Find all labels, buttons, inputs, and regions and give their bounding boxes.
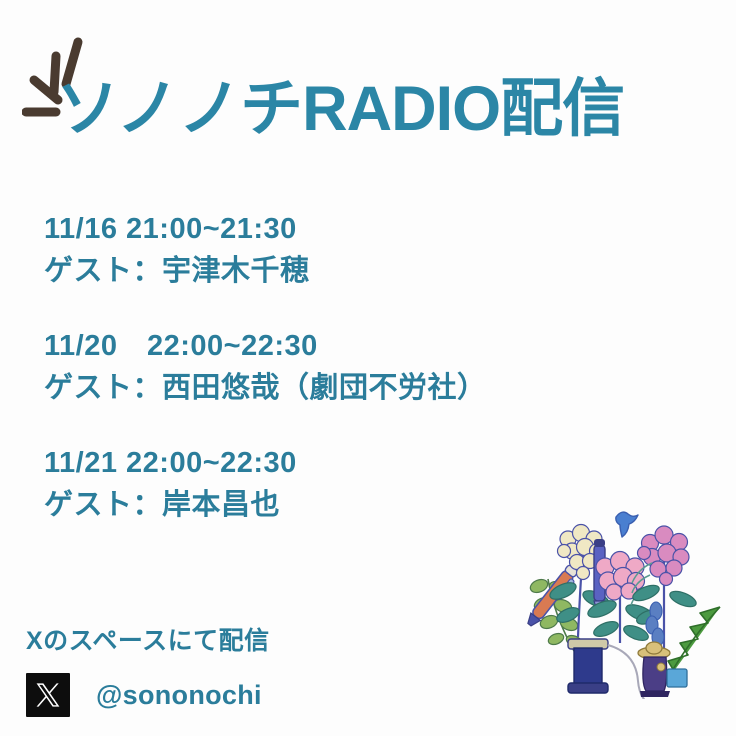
schedule-datetime: 11/16 21:00~21:30: [44, 208, 564, 250]
thread-spool-icon: [568, 639, 608, 693]
dandelion-leaf: [668, 607, 720, 671]
page-title: ソノノチRADIO配信: [56, 78, 624, 141]
bird-icon: [616, 512, 638, 537]
title-block: ソノノチRADIO配信: [22, 34, 582, 144]
schedule-datetime: 11/20 22:00~22:30: [44, 325, 564, 367]
schedule-list: 11/16 21:00~21:30 ゲスト：宇津木千穂 11/20 22:00~…: [44, 208, 564, 526]
schedule-guest: ゲスト：岸本昌也: [44, 484, 564, 526]
schedule-guest: ゲスト：宇津木千穂: [44, 250, 564, 292]
footer-block: Xのスペースにて配信 @sononochi: [26, 626, 426, 717]
schedule-entry: 11/16 21:00~21:30 ゲスト：宇津木千穂: [44, 208, 564, 292]
schedule-guest: ゲスト：西田悠哉（劇団不労社）: [44, 367, 564, 409]
small-figure-with-hat: [638, 642, 687, 697]
broadcast-note: Xのスペースにて配信: [26, 626, 426, 656]
schedule-datetime: 11/21 22:00~22:30: [44, 442, 564, 484]
poster-canvas: ソノノチRADIO配信 11/16 21:00~21:30 ゲスト：宇津木千穂 …: [0, 0, 736, 736]
schedule-entry: 11/20 22:00~22:30 ゲスト：西田悠哉（劇団不労社）: [44, 325, 564, 409]
x-handle-text[interactable]: @sononochi: [96, 680, 262, 711]
schedule-entry: 11/21 22:00~22:30 ゲスト：岸本昌也: [44, 442, 564, 526]
social-handle-row[interactable]: @sononochi: [26, 673, 426, 717]
flowers-and-sewing-illustration: [522, 487, 734, 699]
x-logo-icon[interactable]: [26, 673, 70, 717]
